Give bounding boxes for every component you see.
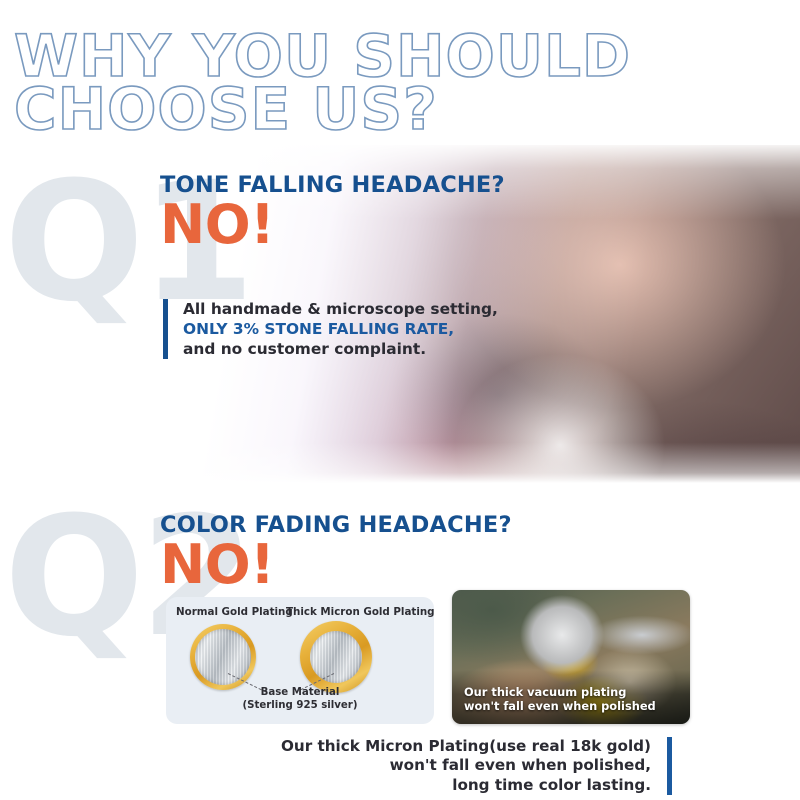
q1-quote-line-2-highlight: ONLY 3% STONE FALLING RATE,	[183, 319, 498, 339]
q2-bottom-caption-line-3: long time color lasting.	[281, 776, 651, 795]
page-title: WHY YOU SHOULD CHOOSE US?	[14, 30, 714, 137]
base-material-line-2: (Sterling 925 silver)	[166, 700, 434, 713]
normal-plating-coin-diagram	[190, 624, 256, 690]
q2-bottom-caption-line-1: Our thick Micron Plating(use real 18k go…	[281, 737, 651, 756]
q2-polish-caption-line-2: won't fall even when polished	[464, 700, 656, 714]
q1-quote-line-1: All handmade & microscope setting,	[183, 299, 498, 319]
q1-quote-block: All handmade & microscope setting, ONLY …	[163, 299, 498, 359]
q2-polish-photo-caption: Our thick vacuum plating won't fall even…	[464, 686, 656, 714]
q2-polish-photo: Our thick vacuum plating won't fall even…	[452, 590, 690, 724]
plating-comparison-panel: Normal Gold Plating Thick Micron Gold Pl…	[166, 597, 434, 724]
plating-label-thick: Thick Micron Gold Plating	[286, 606, 435, 618]
thick-plating-silver-core	[310, 631, 362, 683]
thick-plating-coin-diagram	[300, 621, 372, 693]
base-material-caption: Base Material (Sterling 925 silver)	[166, 687, 434, 713]
q1-quote-line-3: and no customer complaint.	[183, 339, 498, 359]
q1-answer: NO!	[160, 198, 274, 252]
plating-label-normal: Normal Gold Plating	[176, 606, 293, 618]
q2-bottom-caption-line-2: won't fall even when polished,	[281, 756, 651, 775]
q2-polish-caption-line-1: Our thick vacuum plating	[464, 686, 656, 700]
page-title-line-2: CHOOSE US?	[14, 83, 714, 136]
q2-answer: NO!	[160, 538, 274, 592]
page-root: WHY YOU SHOULD CHOOSE US? Q1 TONE FALLIN…	[0, 0, 800, 800]
base-material-line-1: Base Material	[166, 687, 434, 700]
q2-bottom-caption: Our thick Micron Plating(use real 18k go…	[281, 737, 672, 795]
normal-plating-silver-core	[195, 629, 251, 685]
